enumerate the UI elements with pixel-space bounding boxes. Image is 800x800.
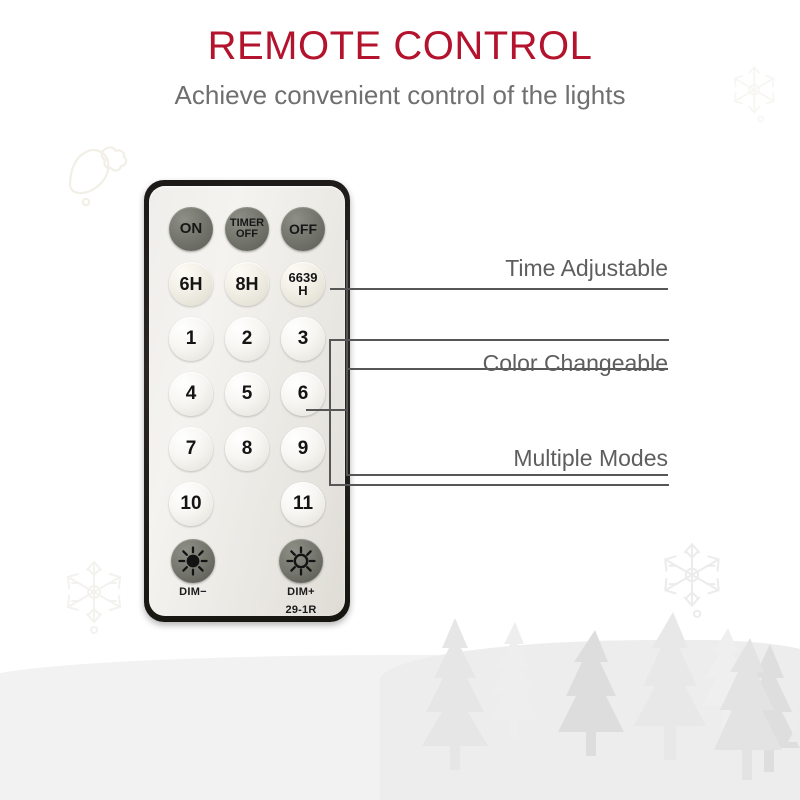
remote-button-on-label: ON (180, 221, 203, 236)
remote-button-10-label: 10 (180, 494, 201, 513)
callout-vline-color-changeable-spine (346, 288, 348, 474)
remote-button-11[interactable]: 11 (281, 482, 325, 526)
page-title: REMOTE CONTROL (0, 26, 800, 66)
remote-button-9-label: 9 (298, 439, 309, 458)
remote-button-9[interactable]: 9 (281, 427, 325, 471)
callout-vline-time-adjustable (346, 240, 348, 290)
snowflake-icon-lower-right (655, 538, 731, 620)
remote-button-dim-plus[interactable] (279, 539, 323, 583)
remote-button-2-label: 2 (242, 329, 253, 348)
remote-button-4-label: 4 (186, 384, 197, 403)
remote-button-7[interactable]: 7 (169, 427, 213, 471)
callout-bracket-left (329, 339, 331, 486)
remote-button-3-label: 3 (298, 329, 309, 348)
remote-button-3[interactable]: 3 (281, 317, 325, 361)
remote-button-6639h-label-line1: 6639 (289, 271, 318, 284)
page-subtitle: Achieve convenient control of the lights (0, 80, 800, 111)
remote-button-1-label: 1 (186, 329, 197, 348)
remote-button-timer-off[interactable]: TIMER OFF (225, 207, 269, 251)
remote-button-6h-label: 6H (179, 275, 202, 293)
callout-line-time-adjustable (330, 288, 668, 290)
product-feature-graphic: REMOTE CONTROL Achieve convenient contro… (0, 0, 800, 800)
sun-outline-icon (284, 544, 318, 578)
callout-bracket-bottom (329, 484, 669, 486)
callout-label-time-adjustable: Time Adjustable (368, 255, 668, 282)
remote-button-off[interactable]: OFF (281, 207, 325, 251)
remote-button-6639h[interactable]: 6639 H (281, 262, 325, 306)
remote-button-6639h-label-line2: H (298, 284, 307, 297)
remote-button-8-label: 8 (242, 439, 253, 458)
remote-button-7-label: 7 (186, 439, 197, 458)
remote-button-timer-off-label-line2: OFF (236, 229, 258, 240)
bell-outline-icon (48, 128, 128, 208)
remote-button-8[interactable]: 8 (225, 427, 269, 471)
remote-faceplate: ON TIMER OFF OFF 6H 8H 6639 H 1 (149, 186, 345, 616)
remote-button-dim-minus-label: DIM− (163, 586, 223, 598)
snowflake-icon-lower-left (58, 556, 132, 636)
callout-label-multiple-modes: Multiple Modes (368, 445, 668, 472)
callout-bracket-top (329, 339, 669, 341)
remote-button-8h[interactable]: 8H (225, 262, 269, 306)
sun-filled-icon (176, 544, 210, 578)
remote-button-6-label: 6 (298, 384, 309, 403)
remote-model-label: 29-1R (271, 604, 331, 616)
remote-button-8h-label: 8H (235, 275, 258, 293)
remote-button-on[interactable]: ON (169, 207, 213, 251)
callout-bracket-stub (306, 409, 346, 411)
remote-button-6h[interactable]: 6H (169, 262, 213, 306)
remote-button-5[interactable]: 5 (225, 372, 269, 416)
snow-hill-background-far (380, 640, 800, 800)
remote-button-5-label: 5 (242, 384, 253, 403)
callout-label-color-changeable: Color Changeable (368, 350, 668, 377)
remote-button-10[interactable]: 10 (169, 482, 213, 526)
callout-line-multiple-modes (346, 474, 668, 476)
remote-button-dim-minus[interactable] (171, 539, 215, 583)
remote-button-2[interactable]: 2 (225, 317, 269, 361)
remote-button-1[interactable]: 1 (169, 317, 213, 361)
remote-control-device: ON TIMER OFF OFF 6H 8H 6639 H 1 (144, 180, 350, 622)
remote-button-dim-plus-label: DIM+ (271, 586, 331, 598)
remote-button-11-label: 11 (293, 494, 313, 513)
remote-button-off-label: OFF (289, 222, 317, 236)
remote-button-4[interactable]: 4 (169, 372, 213, 416)
